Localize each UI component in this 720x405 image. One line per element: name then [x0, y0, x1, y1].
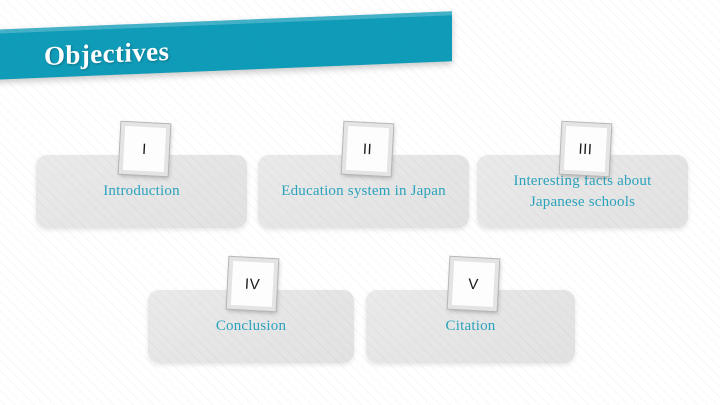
objective-numeral-3: III — [578, 141, 593, 157]
objective-label-1: Introduction — [93, 181, 190, 201]
slide-canvas: Objectives Introduction I Education syst… — [0, 0, 720, 405]
objective-badge-1: I — [119, 122, 171, 176]
objective-badge-2: II — [342, 122, 394, 176]
objective-numeral-4: IV — [245, 276, 261, 292]
objective-numeral-2: II — [362, 141, 372, 156]
objective-label-2: Education system in Japan — [271, 181, 456, 201]
objective-label-3: Interesting facts about Japanese schools — [477, 171, 688, 212]
objective-badge-5: V — [448, 257, 500, 311]
objective-numeral-1: I — [142, 141, 147, 156]
objective-numeral-5: V — [468, 276, 479, 292]
page-title: Objectives — [44, 36, 169, 72]
objective-label-4: Conclusion — [206, 316, 296, 336]
objective-badge-3: III — [560, 122, 612, 176]
objective-label-5: Citation — [436, 316, 506, 336]
objective-badge-4: IV — [227, 257, 279, 311]
